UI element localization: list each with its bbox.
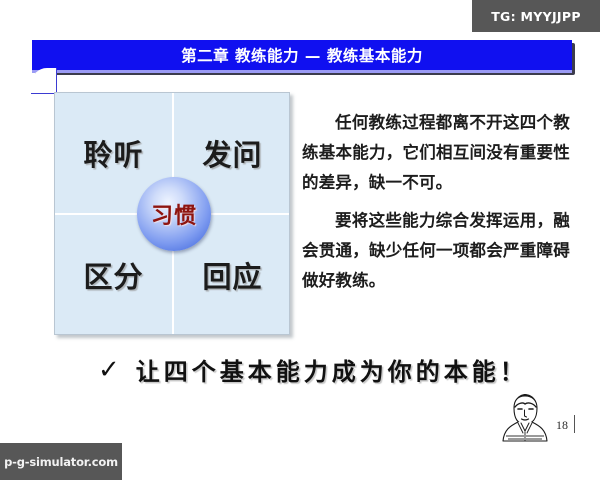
slide-canvas: 第二章 教练能力 — 教练基本能力 聆听 发问 区分 回应 习惯 任何教练过程都… [0,0,600,480]
telegram-watermark: TG: MYYJJPP [472,0,600,32]
quadrant-label: 回应 [202,254,262,296]
paragraph-two: 要将这些能力综合发挥运用，融会贯通，缺少任何一项都会严重障碍做好教练。 [302,206,570,296]
slogan-text: 让四个基本能力成为你的本能！ [136,352,528,387]
center-habit-label: 习惯 [151,198,197,230]
title-corner-notch [31,68,57,94]
page-number-rule [574,415,575,433]
title-underline [32,70,572,73]
quadrant-label: 发问 [202,132,262,174]
slide-title-bar: 第二章 教练能力 — 教练基本能力 [32,40,572,70]
body-text-block: 任何教练过程都离不开这四个教练基本能力，它们相互间没有重要性的差异，缺一不可。 … [302,108,570,296]
page-number: 18 [556,418,568,433]
quadrant-label: 聆听 [83,132,143,174]
page-title: 第二章 教练能力 — 教练基本能力 [181,44,423,66]
slogan-row: ✓ 让四个基本能力成为你的本能！ [98,352,528,387]
paragraph-one: 任何教练过程都离不开这四个教练基本能力，它们相互间没有重要性的差异，缺一不可。 [302,108,570,198]
competency-quadrant-diagram: 聆听 发问 区分 回应 习惯 [54,92,290,335]
center-habit-circle: 习惯 [137,177,211,251]
quadrant-label: 区分 [83,254,143,296]
check-icon: ✓ [98,357,120,383]
presenter-portrait-icon [494,391,556,447]
site-watermark: p-g-simulator.com [0,443,122,480]
